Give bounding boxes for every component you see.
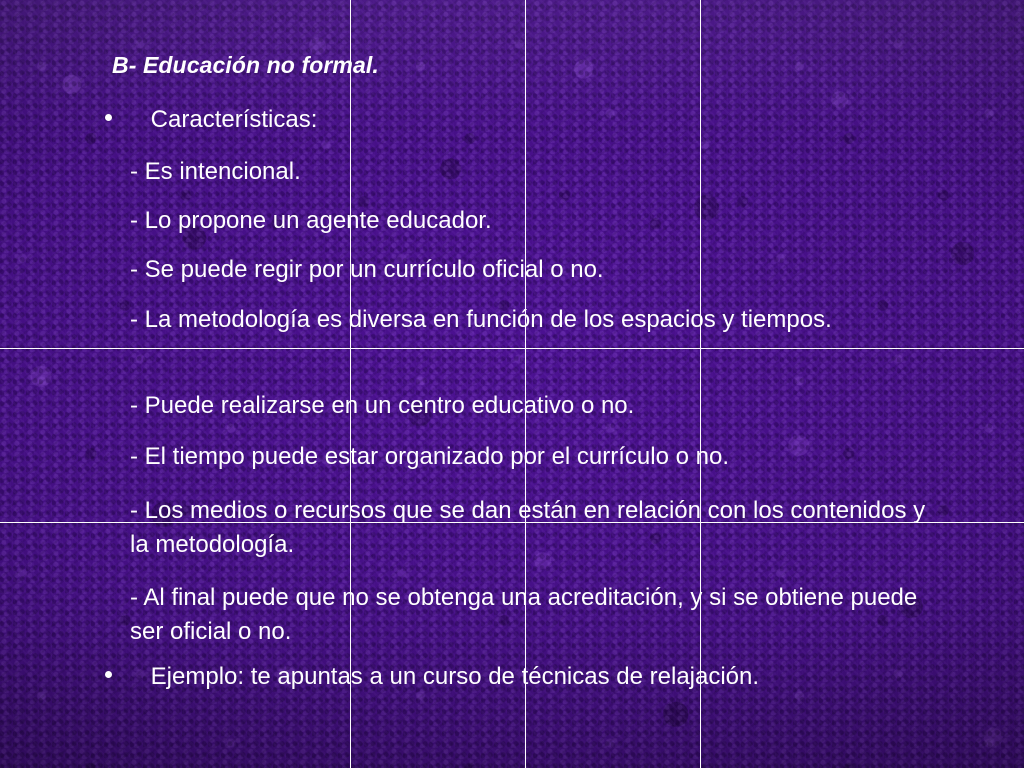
list-item: - Se puede regir por un currículo oficia… xyxy=(130,253,940,287)
bullet-label: Características: xyxy=(144,106,317,134)
list-item: - El tiempo puede estar organizado por e… xyxy=(130,440,940,474)
slide-content: B- Educación no formal. Características:… xyxy=(0,0,1024,768)
bullet-item-ejemplo: Ejemplo: te apuntas a un curso de técnic… xyxy=(105,663,759,691)
list-item: - Puede realizarse en un centro educativ… xyxy=(130,389,940,423)
bullet-dot-icon xyxy=(105,114,112,121)
page-title: B- Educación no formal. xyxy=(112,52,379,79)
bullet-dot-icon xyxy=(105,671,112,678)
bullet-item-caracteristicas: Características: xyxy=(105,106,317,134)
list-item: - Lo propone un agente educador. xyxy=(130,204,940,238)
list-item: - Es intencional. xyxy=(130,155,940,189)
slide-canvas: B- Educación no formal. Características:… xyxy=(0,0,1024,768)
list-item: - La metodología es diversa en función d… xyxy=(130,303,940,337)
bullet-label: Ejemplo: te apuntas a un curso de técnic… xyxy=(144,663,759,691)
list-item: - Los medios o recursos que se dan están… xyxy=(130,494,940,562)
list-item: - Al final puede que no se obtenga una a… xyxy=(130,581,940,649)
